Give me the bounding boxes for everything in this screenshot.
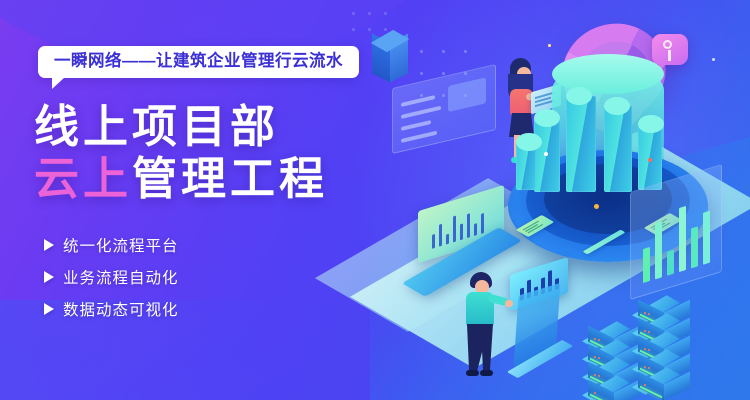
bullet-label: 数据动态可视化: [63, 298, 179, 320]
list-item: 统一化流程平台: [44, 232, 179, 258]
server-rack-group: [586, 268, 736, 400]
bullet-label: 业务流程自动化: [63, 266, 179, 288]
headline-block: 线上项目部 云上管理工程: [34, 104, 328, 202]
chat-bubble-key-icon: [652, 34, 688, 65]
key-glyph: [663, 40, 672, 49]
platform-light: [594, 204, 599, 209]
feature-bullet-list: 统一化流程平台 业务流程自动化 数据动态可视化: [44, 232, 179, 328]
tagline-bubble: 一瞬网络——让建筑企业管理行云流水: [38, 46, 359, 78]
triangle-right-icon: [44, 303, 54, 315]
server-rack-unit: [636, 370, 692, 389]
figure-shoe: [466, 370, 479, 376]
figure-shoe: [480, 370, 493, 376]
triangle-right-icon: [44, 271, 54, 283]
tower-light: [544, 152, 548, 156]
tower-building: [516, 142, 536, 190]
data-cylinder-top: [552, 54, 664, 94]
headline-line-1: 线上项目部: [34, 104, 328, 150]
tower-building: [604, 106, 632, 192]
bullet-label: 统一化流程平台: [63, 234, 179, 256]
tower-building: [566, 96, 596, 192]
tower-building: [638, 124, 662, 190]
promo-banner: 一瞬网络——让建筑企业管理行云流水 线上项目部 云上管理工程 统一化流程平台 业…: [0, 0, 750, 400]
headline-accent: 云上: [34, 153, 132, 204]
headline-line-2: 云上管理工程: [34, 156, 328, 202]
headline-rest: 管理工程: [132, 153, 328, 204]
man-at-podium-figure: [458, 272, 518, 384]
list-item: 数据动态可视化: [44, 296, 179, 322]
triangle-right-icon: [44, 239, 54, 251]
ui-card-block: [448, 77, 486, 112]
tower-light: [648, 158, 652, 162]
figure-legs: [467, 324, 493, 372]
tagline-text: 一瞬网络——让建筑企业管理行云流水: [54, 53, 343, 70]
figure-hand: [505, 300, 513, 307]
copy-block: 一瞬网络——让建筑企业管理行云流水 线上项目部 云上管理工程 统一化流程平台 业…: [0, 0, 430, 400]
list-item: 业务流程自动化: [44, 264, 179, 290]
